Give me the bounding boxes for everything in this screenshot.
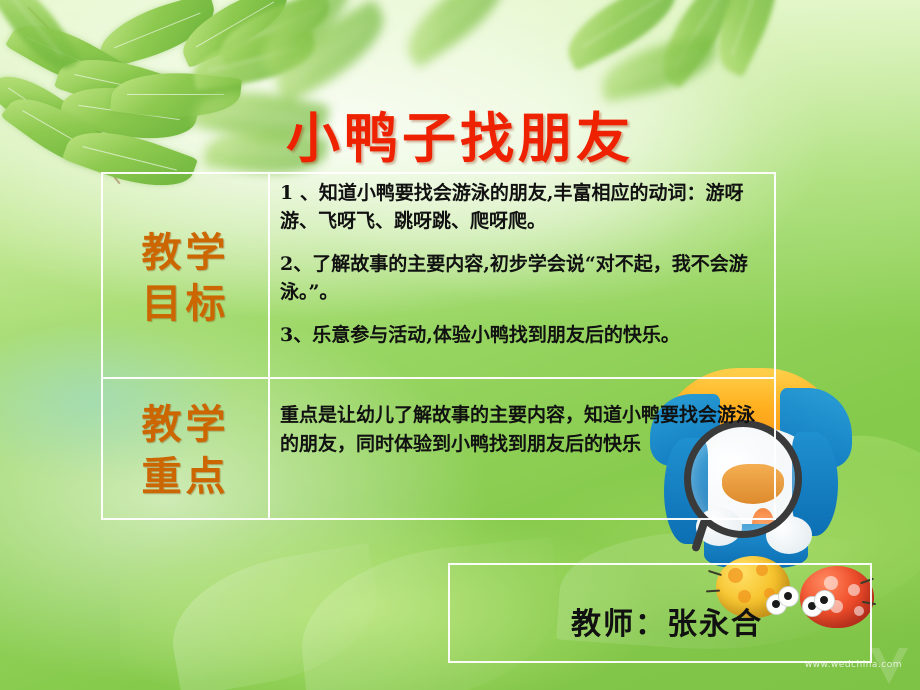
row-label-teaching-goals: 教学 目标 (103, 188, 268, 368)
teacher-name: 教师：张永合 (571, 599, 763, 643)
watermark-logo-icon (866, 644, 912, 688)
goal-item: 2、了解故事的主要内容,初步学会说“对不起，我不会游泳。”。 (280, 251, 764, 306)
goal-item: 3、乐意参与活动,体验小鸭找到朋友后的快乐。 (280, 322, 764, 350)
slide-title: 小鸭子找朋友 (0, 94, 920, 173)
row-label-line-1: 教学 (142, 399, 230, 450)
row-label-teaching-focus: 教学 重点 (103, 379, 268, 522)
row-label-line-1: 教学 (142, 227, 230, 278)
teacher-box: 教师：张永合 (448, 563, 872, 663)
teaching-goals-cell: 1 、知道小鸭要找会游泳的朋友,丰富相应的动词：游呀游、飞呀飞、跳呀跳、爬呀爬。… (270, 174, 774, 377)
focus-text: 重点是让幼儿了解故事的主要内容，知道小鸭要找会游泳的朋友，同时体验到小鸭找到朋友… (280, 401, 764, 458)
row-label-line-2: 重点 (142, 451, 230, 502)
presentation-slide: 小鸭子找朋友 (0, 0, 920, 690)
content-table: 教学 目标 1 、知道小鸭要找会游泳的朋友,丰富相应的动词：游呀游、飞呀飞、跳呀… (101, 172, 776, 520)
goal-item: 1 、知道小鸭要找会游泳的朋友,丰富相应的动词：游呀游、飞呀飞、跳呀跳、爬呀爬。 (280, 180, 764, 235)
row-label-line-2: 目标 (142, 278, 230, 329)
teaching-focus-cell: 重点是让幼儿了解故事的主要内容，知道小鸭要找会游泳的朋友，同时体验到小鸭找到朋友… (270, 379, 774, 522)
